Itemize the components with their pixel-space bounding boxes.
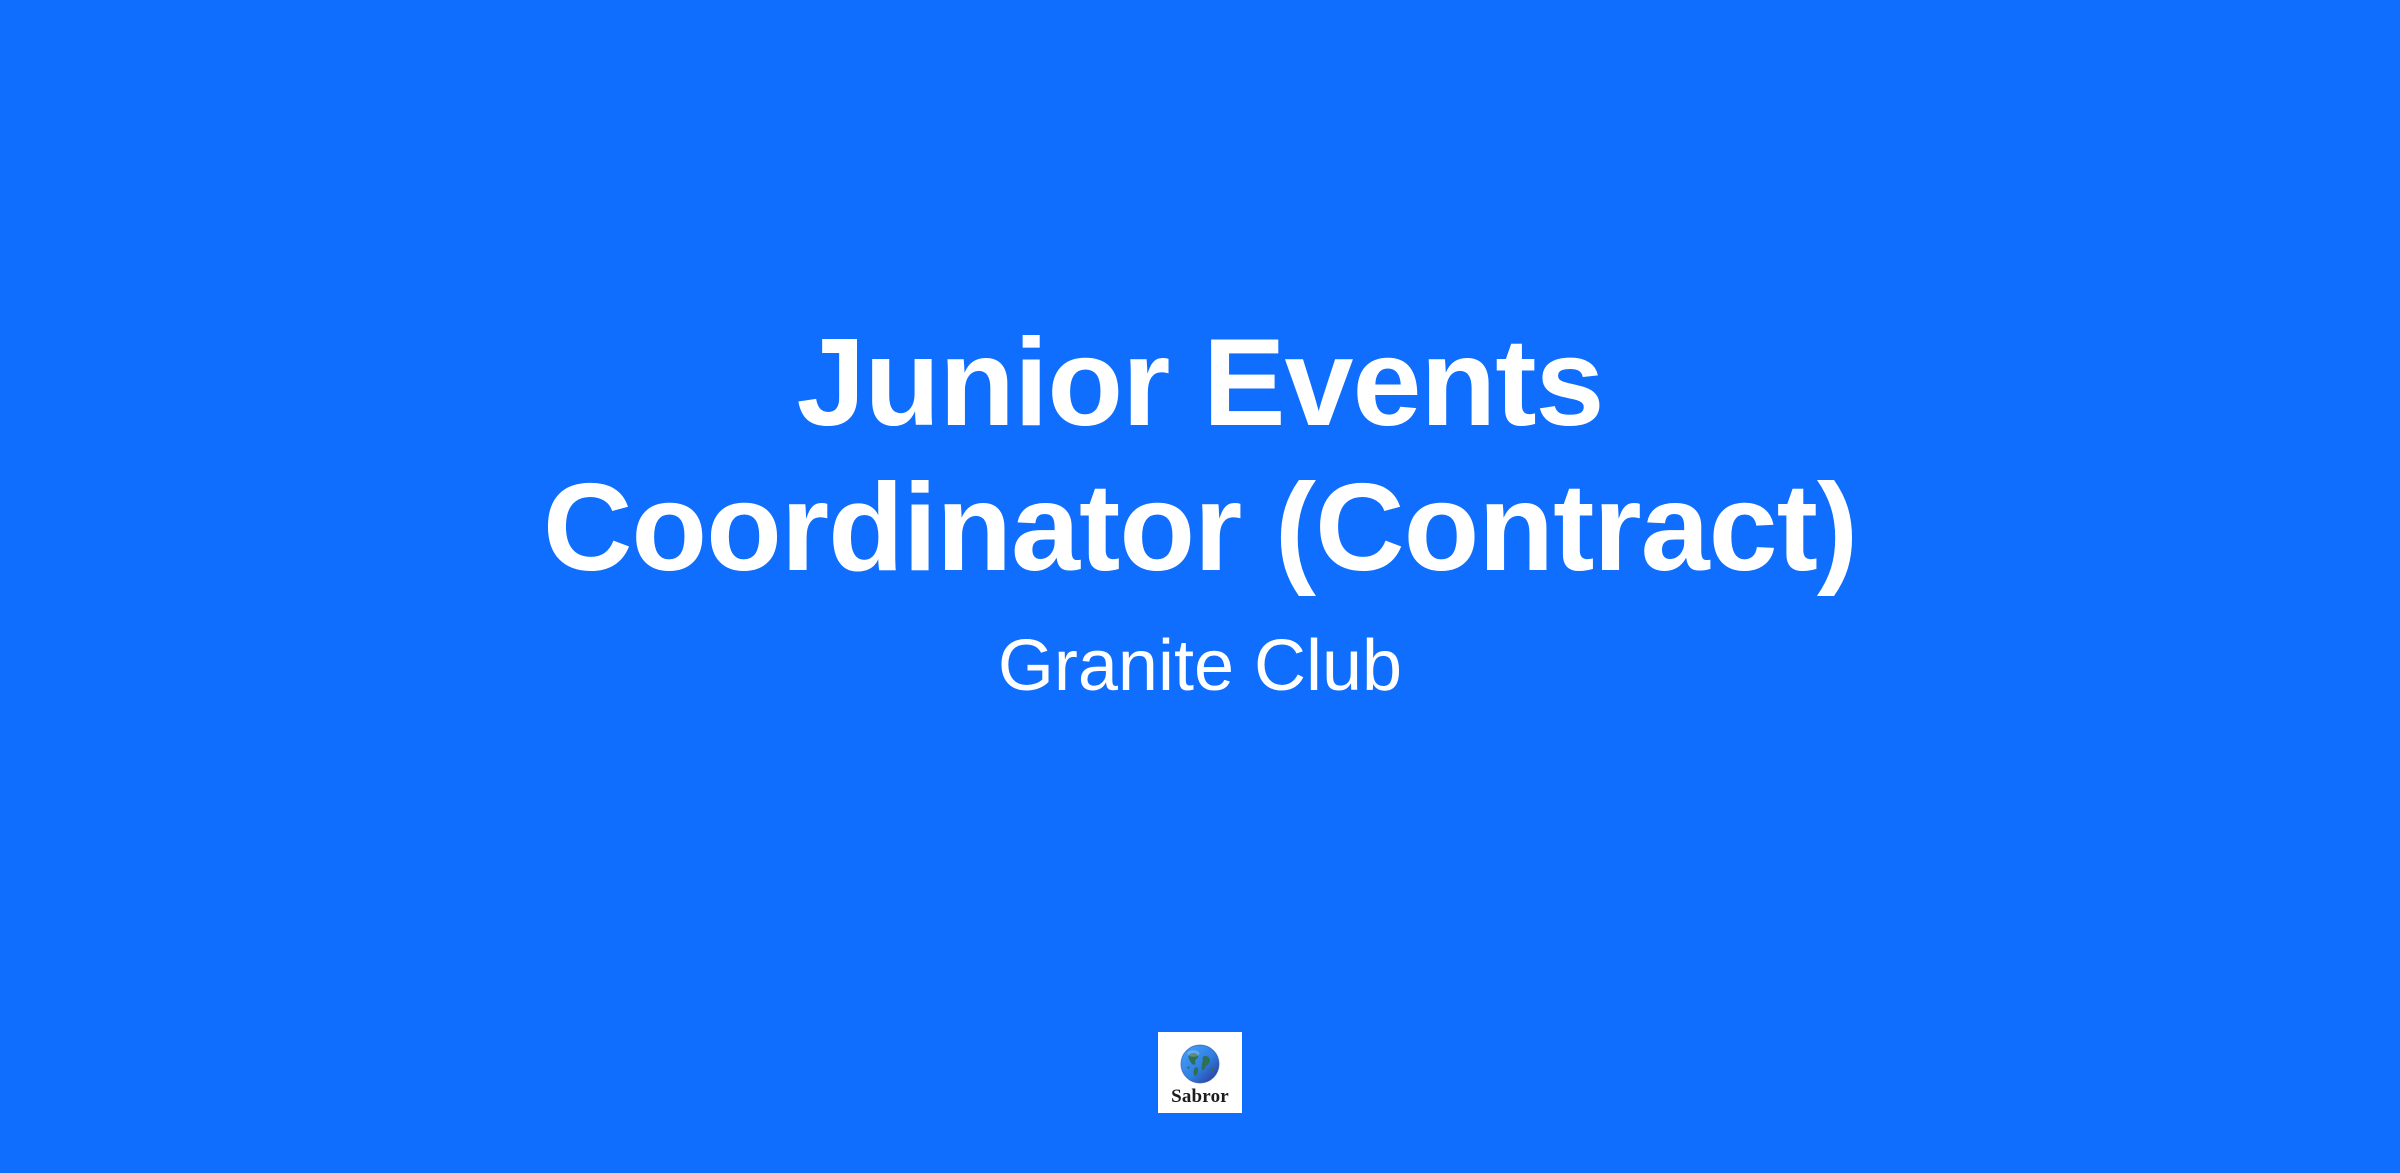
hero-content: Junior Events Coordinator (Contract) Gra… [0, 0, 2400, 1020]
globe-icon [1179, 1043, 1221, 1085]
company-name: Granite Club [998, 623, 1402, 709]
logo-wordmark: Sabror [1171, 1087, 1229, 1106]
job-posting-hero: Junior Events Coordinator (Contract) Gra… [0, 0, 2400, 1173]
page-title: Junior Events Coordinator (Contract) [450, 311, 1950, 601]
brand-logo: Sabror [1158, 1032, 1242, 1113]
